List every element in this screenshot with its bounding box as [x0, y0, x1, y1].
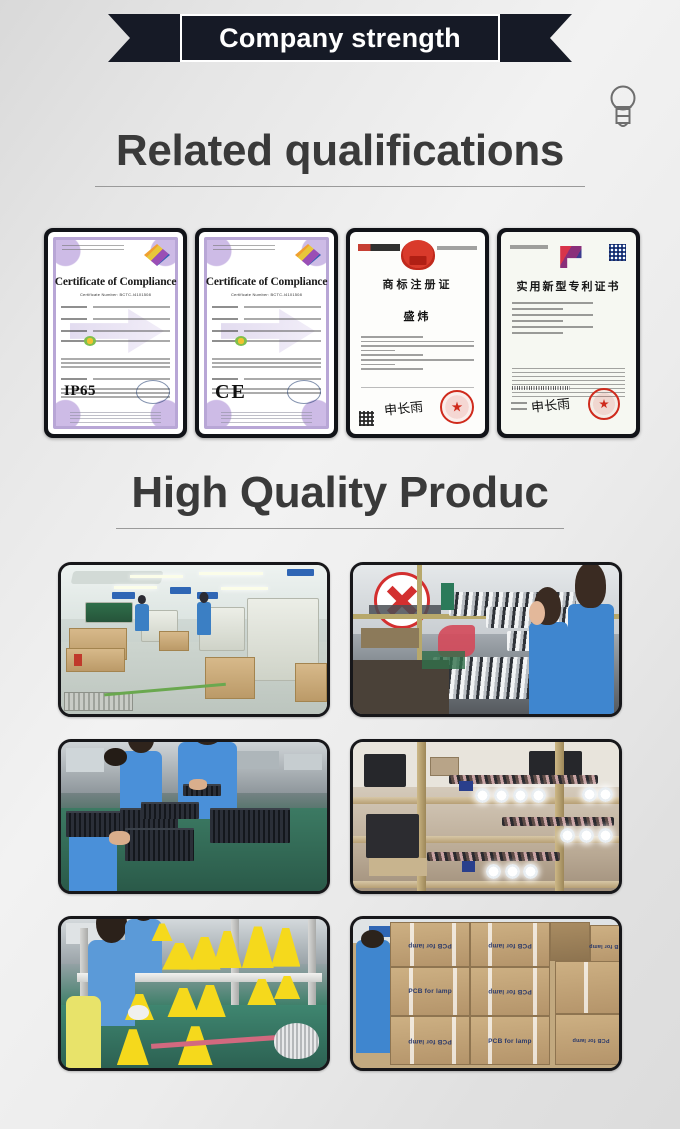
certificate-image: Certificate of Compliance Certificate Nu…: [48, 232, 183, 434]
page-title-products: High Quality Produc: [0, 470, 680, 516]
section-heading-products: High Quality Produc: [0, 470, 680, 529]
certificate-title: Certificate of Compliance: [48, 276, 183, 288]
carton-label: PCB for lamp: [471, 1038, 549, 1045]
certificate-footer-note: [70, 412, 161, 426]
certificate-issuer-lines: [62, 245, 124, 253]
certificate-number: Certificate Number: BCTC-I4101508: [199, 292, 334, 297]
carton-label: PCB for lamp: [556, 1037, 622, 1043]
ribbon: Company strength: [108, 14, 572, 62]
certificate-issuer-lines: [213, 245, 275, 253]
certificate-seal-icon: [287, 380, 321, 404]
certificates-row: Certificate of Compliance Certificate Nu…: [44, 228, 640, 438]
certificate-field-product: [61, 330, 170, 332]
carton-label: PCB for lamp: [471, 988, 549, 995]
certificate-number: Certificate Number: BCTC-I4101508: [48, 292, 183, 297]
patent-office-logo-icon: [556, 246, 582, 268]
trademark-brand-name: 盛炜: [350, 308, 485, 324]
certificate-field-applicant: [212, 306, 321, 308]
certificate-field-manufacturer: [212, 318, 321, 320]
certificate-footer-note: [221, 412, 312, 426]
certificate-card-trademark[interactable]: 商标注册证 盛炜 申长雨: [346, 228, 489, 438]
certificate-title: Certificate of Compliance: [199, 276, 334, 288]
patent-barcode-icon: [512, 386, 570, 390]
photo-image: [61, 919, 327, 1068]
light-bulb-icon: [608, 82, 638, 134]
national-emblem-icon: [401, 240, 435, 270]
certificate-field-product: [212, 330, 321, 332]
certificate-card-patent[interactable]: 实用新型专利证书 申长雨: [497, 228, 640, 438]
certification-body-logo-icon: [144, 244, 170, 266]
ribbon-center: Company strength: [180, 14, 500, 62]
photo-image: [353, 742, 619, 891]
certificate-field-trademark: [212, 340, 321, 342]
trademark-logo-icon: [84, 336, 96, 346]
carton-label: PCB for lamp: [591, 943, 622, 949]
certificate-title: 实用新型专利证书: [501, 278, 636, 294]
photo-yellow-housing-assembly[interactable]: [58, 916, 330, 1071]
heading-divider: [116, 528, 564, 529]
registration-number-text: [437, 246, 477, 250]
patent-number-text: [510, 245, 548, 249]
certificate-body-text: [361, 336, 474, 373]
certificate-card-compliance-ip65[interactable]: Certificate of Compliance Certificate Nu…: [44, 228, 187, 438]
certificate-field-trademark: [61, 340, 170, 342]
photo-factory-production-floor[interactable]: [58, 562, 330, 717]
qr-code-icon: [609, 244, 626, 261]
carton-label: PCB for lamp: [471, 942, 549, 949]
issuing-authority-text: [358, 244, 400, 251]
certificate-divider: [361, 387, 474, 388]
photo-image: PCB for lamp PCB for lamp PCB for lamp P…: [353, 919, 619, 1068]
carton-label: PCB for lamp: [391, 1038, 469, 1045]
official-signature: 申长雨: [383, 396, 424, 419]
certificate-field-applicant: [61, 306, 170, 308]
ribbon-tail-right: [500, 14, 572, 62]
certificate-seal-icon: [136, 380, 170, 404]
photo-image: [353, 565, 619, 714]
certificate-field-manufacturer: [61, 318, 170, 320]
certificate-mark: CE: [215, 381, 247, 404]
carton-label: PCB for lamp: [391, 942, 469, 949]
official-signature: 申长雨: [530, 393, 571, 416]
photo-assembly-line[interactable]: [350, 562, 622, 717]
certificate-models: [61, 358, 170, 370]
certification-body-logo-icon: [295, 244, 321, 266]
factory-photo-grid: PCB for lamp PCB for lamp PCB for lamp P…: [58, 562, 622, 1071]
certificate-image: 商标注册证 盛炜 申长雨: [350, 232, 485, 434]
certificate-models: [212, 358, 321, 370]
photo-packed-cartons[interactable]: PCB for lamp PCB for lamp PCB for lamp P…: [350, 916, 622, 1071]
signature-labels: [511, 402, 527, 414]
trademark-logo-icon: [235, 336, 247, 346]
company-strength-banner: Company strength: [0, 14, 680, 62]
ribbon-tail-left: [108, 14, 180, 62]
certificate-title: 商标注册证: [350, 276, 485, 292]
banner-title: Company strength: [219, 25, 461, 52]
official-red-seal-icon: [588, 388, 620, 420]
official-red-seal-icon: [440, 390, 474, 424]
certificate-body-fields: [512, 302, 625, 338]
photo-heatsink-assembly[interactable]: [58, 739, 330, 894]
heading-divider: [95, 186, 585, 187]
certificate-card-compliance-ce[interactable]: Certificate of Compliance Certificate Nu…: [195, 228, 338, 438]
photo-image: [61, 742, 327, 891]
certificate-image: Certificate of Compliance Certificate Nu…: [199, 232, 334, 434]
certificate-image: 实用新型专利证书 申长雨: [501, 232, 636, 434]
section-heading-qualifications: Related qualifications: [0, 128, 680, 187]
page-title-qualifications: Related qualifications: [0, 128, 680, 174]
photo-aging-test-racks[interactable]: [350, 739, 622, 894]
photo-image: [61, 565, 327, 714]
carton-label: PCB for lamp: [391, 988, 469, 995]
qr-code-icon: [359, 411, 374, 426]
certificate-mark: IP65: [64, 383, 96, 400]
